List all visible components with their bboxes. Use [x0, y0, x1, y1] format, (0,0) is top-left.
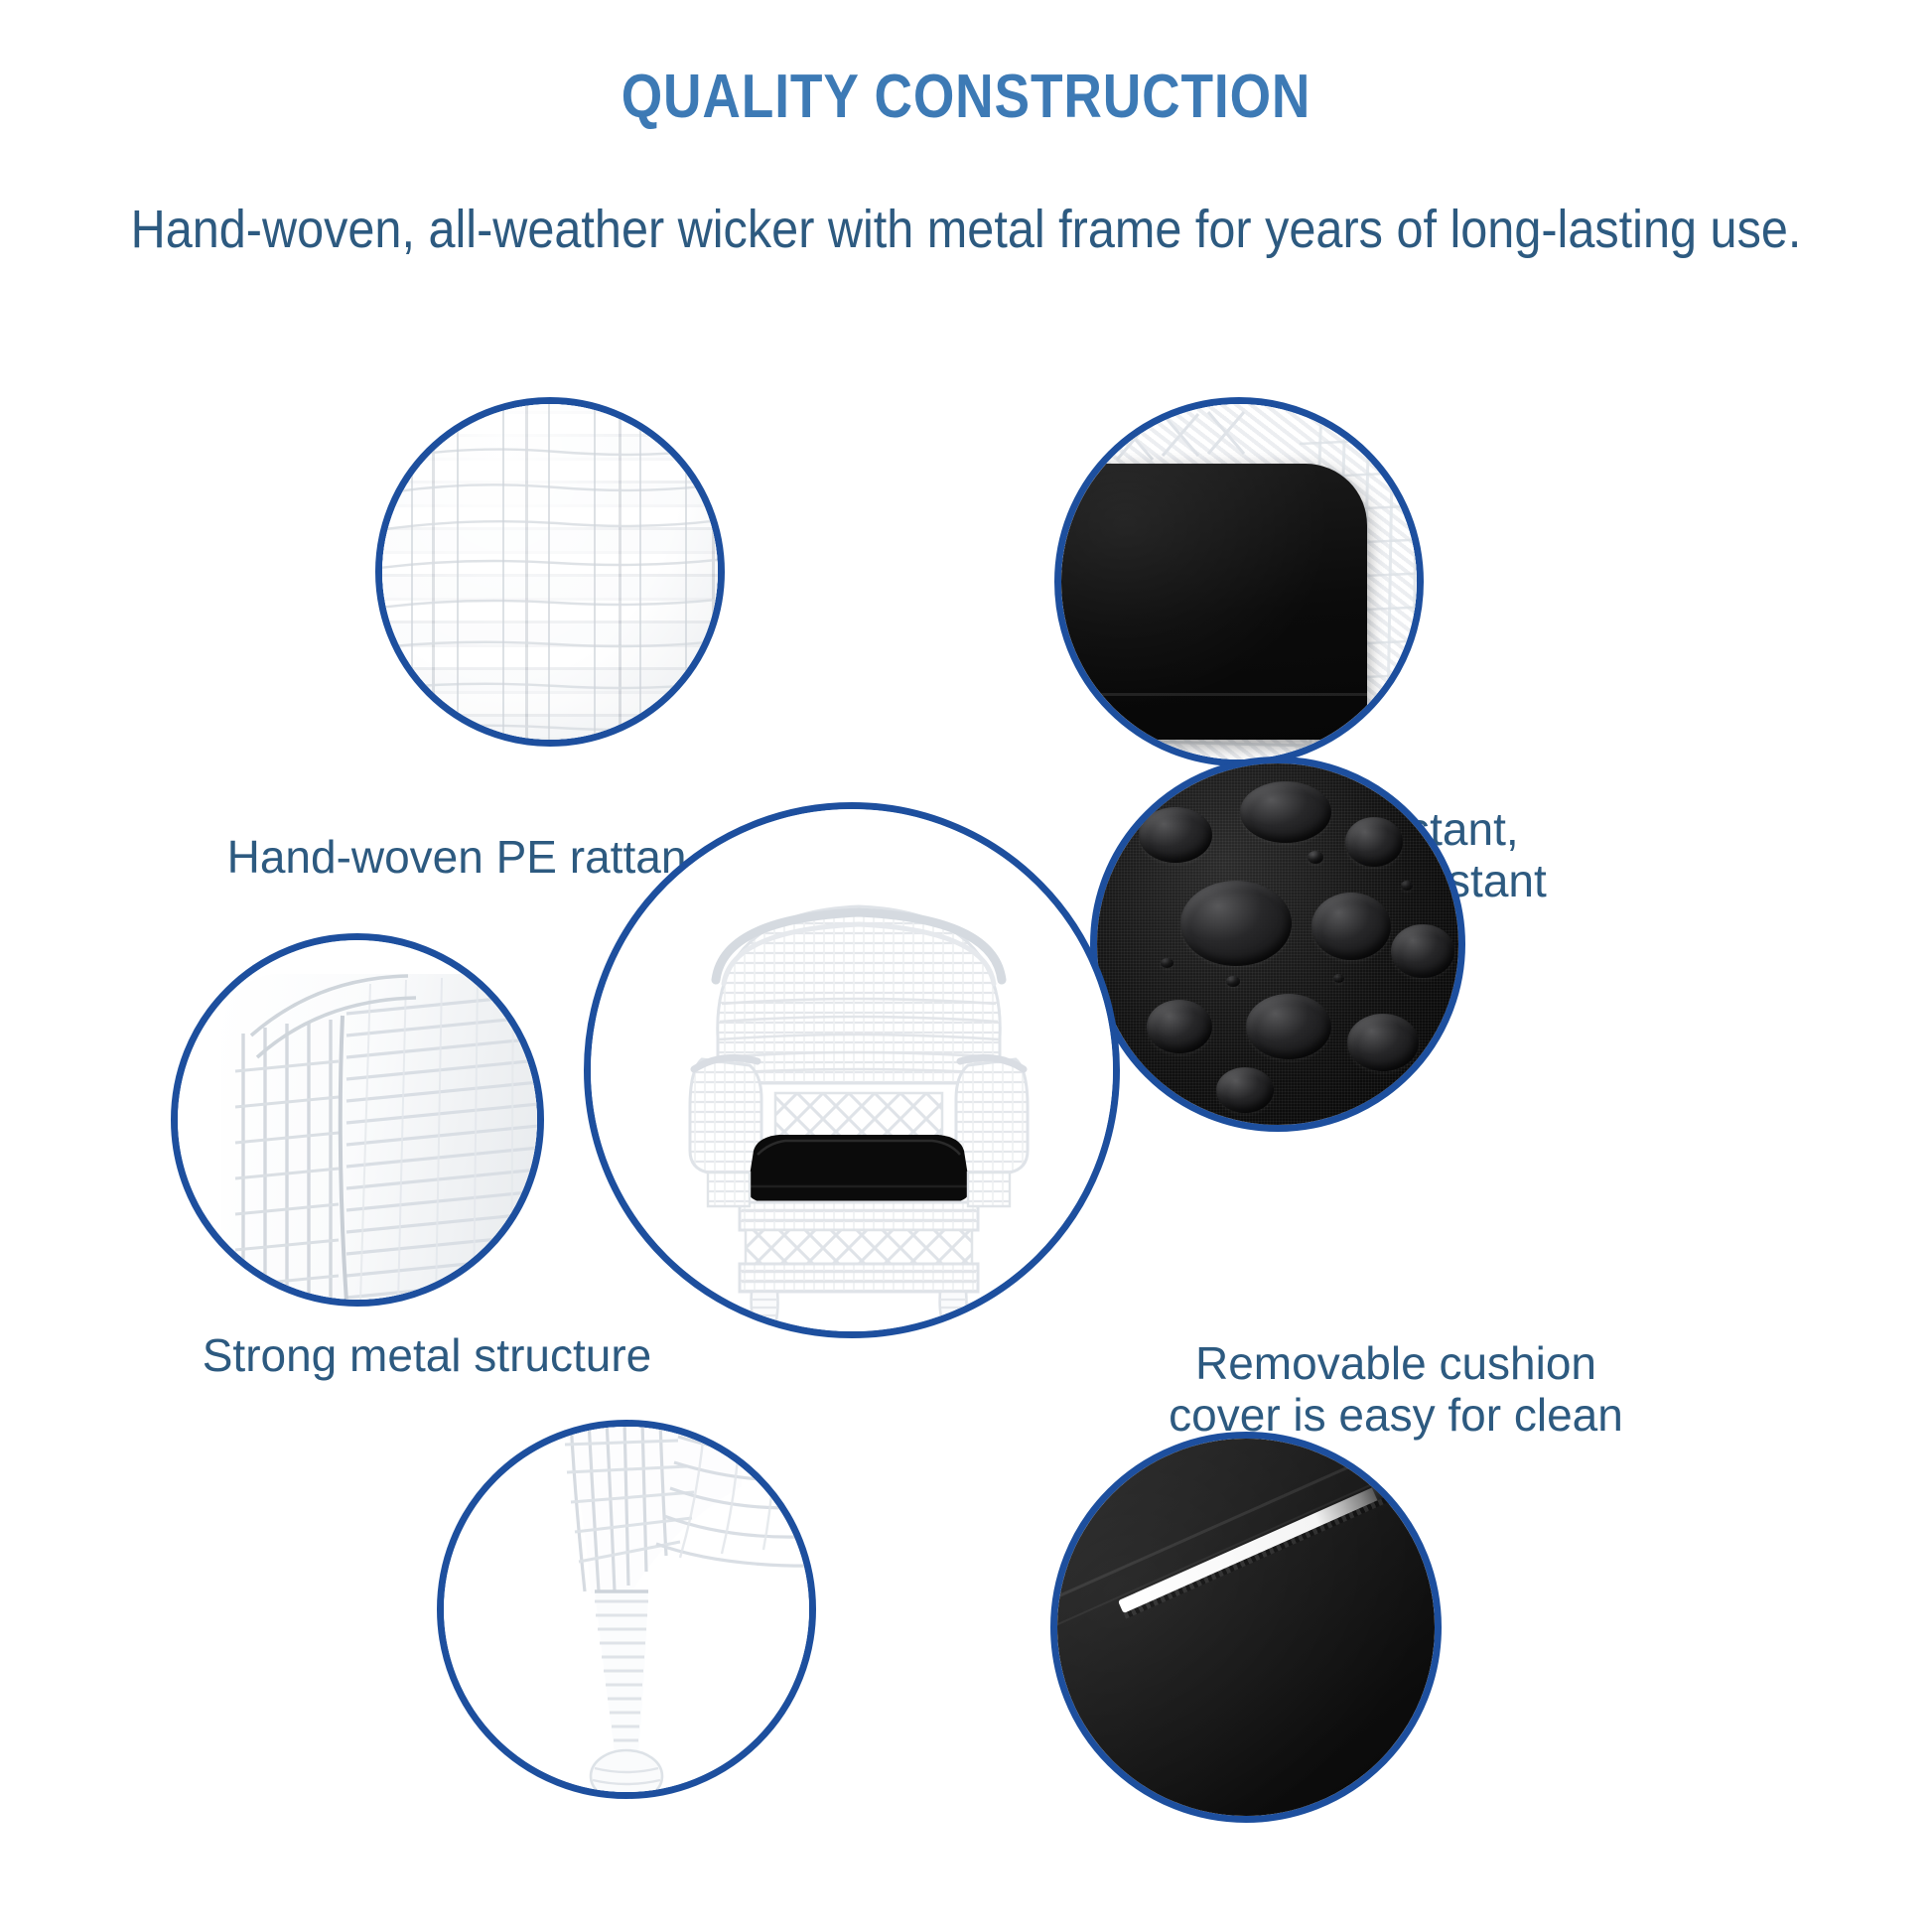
- feature-circle-chair-leg-detail: [437, 1420, 816, 1799]
- cushion-sheen: [1057, 1439, 1435, 1816]
- water-droplet-small: [1401, 881, 1413, 891]
- rattan-weave-image: [382, 404, 718, 740]
- black-cushion-panel: [1057, 1439, 1435, 1816]
- water-droplet-small: [1161, 958, 1173, 968]
- page-subtitle: Hand-woven, all-weather wicker with meta…: [96, 199, 1835, 260]
- water-droplet: [1240, 781, 1331, 843]
- wicker-armchair-image: [591, 809, 1113, 1331]
- water-droplet-small: [1308, 851, 1323, 864]
- water-droplet: [1391, 924, 1454, 978]
- water-droplet-small: [1333, 974, 1344, 983]
- water-droplet: [1311, 893, 1391, 960]
- chair-leg-image: [444, 1427, 809, 1792]
- feature-circle-hand-woven-pe-rattan: [375, 397, 725, 747]
- cushion-zipper-image: [1057, 1439, 1435, 1816]
- water-droplet: [1246, 994, 1331, 1059]
- feature-circle-strong-metal-structure: [171, 933, 544, 1307]
- infographic-page: QUALITY CONSTRUCTION Hand-woven, all-wea…: [0, 0, 1932, 1932]
- chair-arm-corner-image: [178, 940, 537, 1300]
- water-droplet: [1139, 807, 1212, 863]
- water-droplet: [1180, 881, 1292, 966]
- black-seat-cushion: [1061, 464, 1367, 740]
- armchair-drawing: [591, 809, 1113, 1331]
- water-droplet: [1345, 817, 1403, 867]
- rattan-strand-lines: [382, 404, 718, 740]
- water-droplet: [1216, 1067, 1274, 1113]
- feature-circle-removable-cushion-cover: [1090, 757, 1465, 1132]
- page-title: QUALITY CONSTRUCTION: [135, 62, 1797, 132]
- caption-removable-cushion-cover: Removable cushion cover is easy for clea…: [1068, 1338, 1724, 1441]
- arm-weave-lines: [221, 974, 537, 1300]
- center-circle-product-hero: [584, 802, 1120, 1338]
- cushion-highlight: [1061, 464, 1367, 740]
- feature-circle-cushion-zipper: [1050, 1432, 1442, 1823]
- leg-weave-drawing: [444, 1427, 809, 1792]
- water-droplet: [1347, 1014, 1419, 1071]
- feature-circle-uv-splash-resistant: [1054, 397, 1424, 766]
- water-droplets-on-fabric-image: [1097, 763, 1458, 1125]
- caption-strong-metal-structure: Strong metal structure: [109, 1330, 745, 1382]
- cushion-on-wicker-image: [1061, 404, 1417, 759]
- water-droplet-small: [1226, 976, 1240, 987]
- water-droplet: [1147, 1000, 1212, 1053]
- woven-arm-block: [221, 974, 537, 1300]
